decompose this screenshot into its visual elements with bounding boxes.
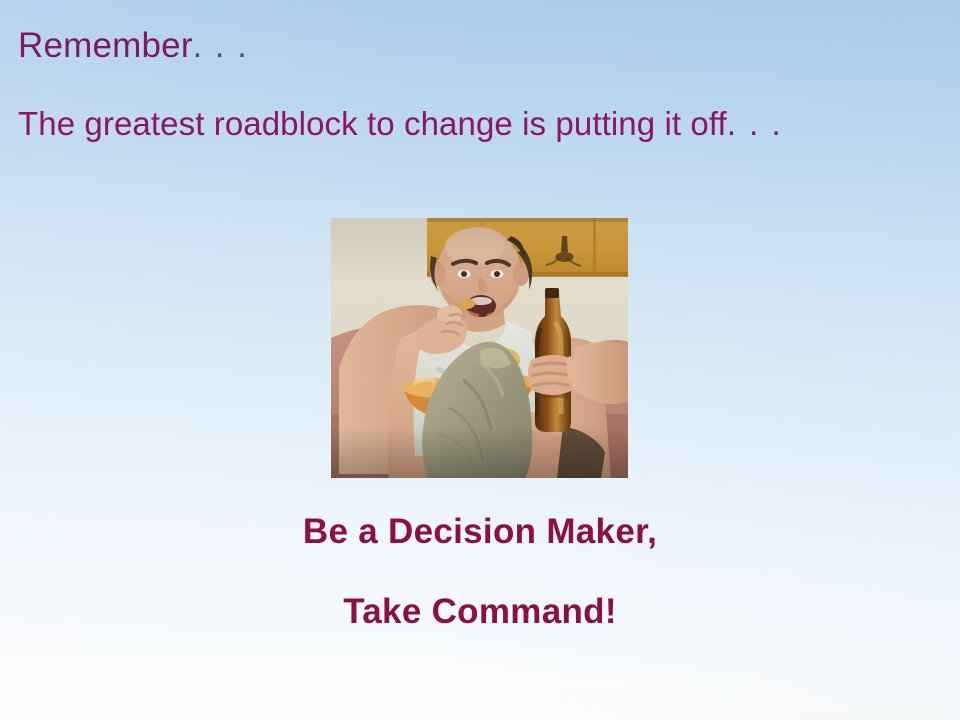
presentation-slide: Remember. . . The greatest roadblock to … bbox=[0, 0, 960, 720]
heading-remember: Remember. . . bbox=[18, 28, 249, 63]
subheading-roadblock-ellipsis: . . . bbox=[727, 105, 783, 142]
couch-potato-photo bbox=[331, 218, 628, 478]
photo-illustration bbox=[331, 218, 628, 478]
heading-remember-text: Remember bbox=[18, 26, 193, 65]
heading-remember-ellipsis: . . . bbox=[193, 27, 249, 64]
tagline-decision-maker: Be a Decision Maker, bbox=[0, 514, 960, 549]
subheading-roadblock: The greatest roadblock to change is putt… bbox=[18, 107, 783, 140]
tagline-take-command: Take Command! bbox=[0, 594, 960, 629]
subheading-roadblock-text: The greatest roadblock to change is putt… bbox=[18, 105, 727, 142]
